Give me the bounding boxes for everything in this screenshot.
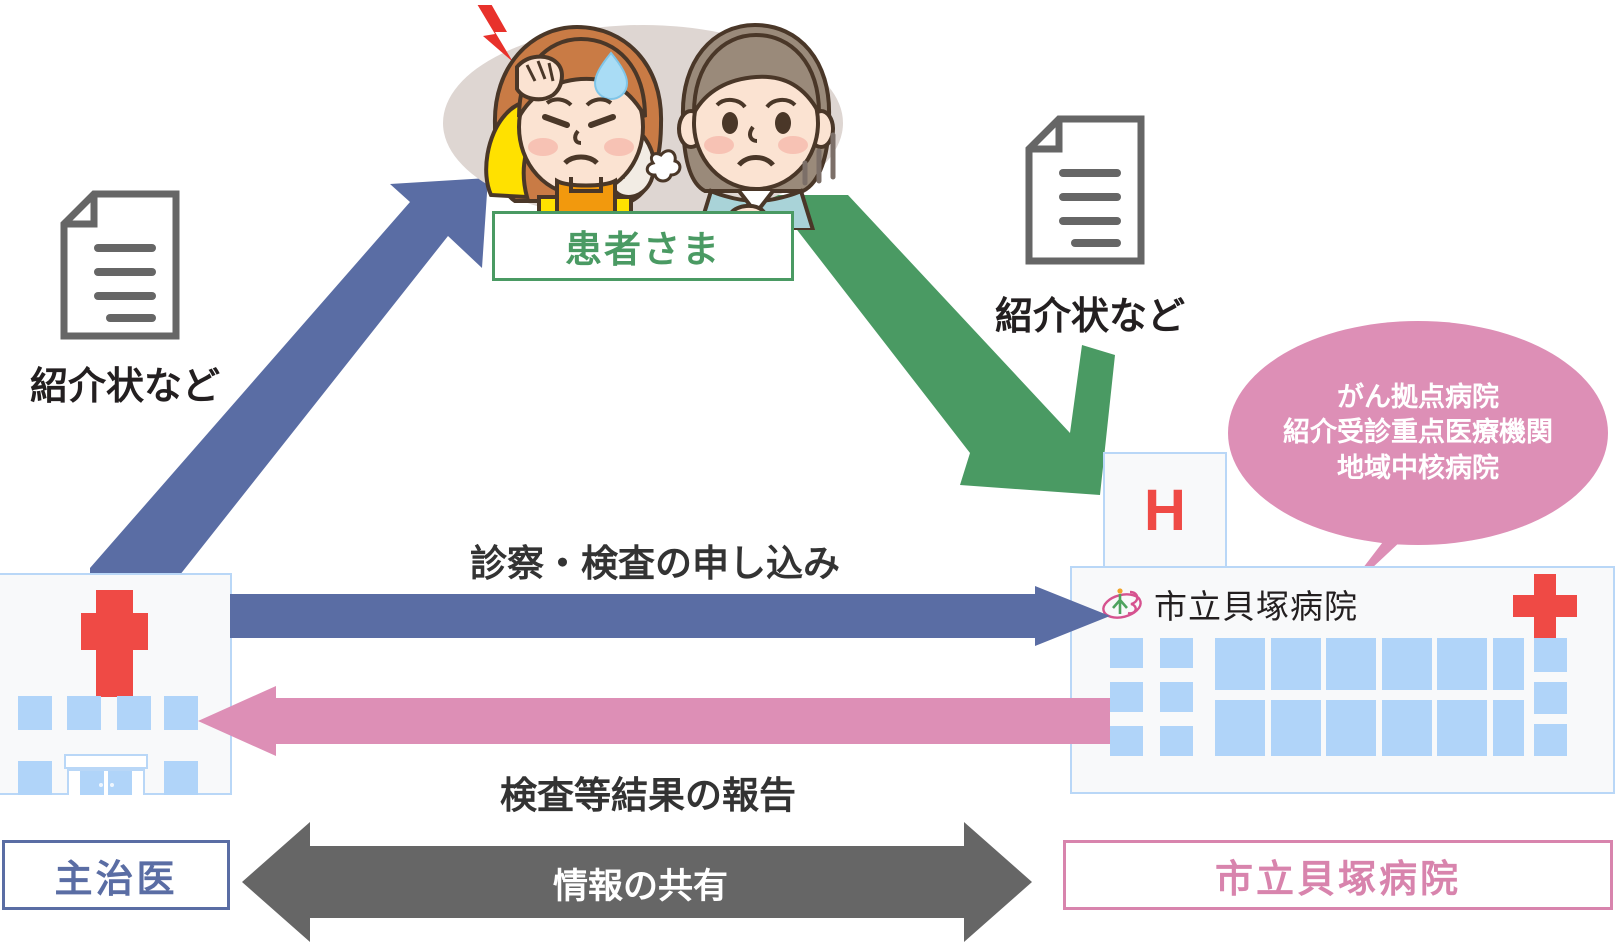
bubble-line-3: 地域中核病院 [1337, 451, 1499, 487]
hospital-name: 市立貝塚病院 [1154, 580, 1358, 628]
role-hospital-label: 市立貝塚病院 [1215, 848, 1461, 903]
request-caption: 診察・検査の申し込み [470, 533, 840, 587]
diagram-canvas: 紹介状など 紹介状など [0, 0, 1615, 951]
referral-document-right-label: 紹介状など [995, 285, 1185, 340]
hospital-building: 市立貝塚病院 [1070, 566, 1615, 794]
bubble-line-1: がん拠点病院 [1337, 380, 1499, 416]
patient-label: 患者さま [565, 219, 721, 273]
referral-document-left [60, 190, 180, 345]
bubble-line-2: 紹介受診重点医療機関 [1283, 415, 1553, 451]
patient-illustration [435, 5, 845, 230]
role-box-hospital: 市立貝塚病院 [1063, 840, 1613, 910]
arrow-request [230, 586, 1110, 646]
designation-bubble: がん拠点病院 紹介受診重点医療機関 地域中核病院 [1228, 321, 1608, 545]
role-box-doctor: 主治医 [2, 840, 230, 910]
patient-label-box: 患者さま [492, 211, 794, 281]
role-doctor-label: 主治医 [54, 848, 177, 903]
report-caption: 検査等結果の報告 [500, 765, 796, 819]
document-icon [60, 190, 180, 340]
referral-document-right [1025, 115, 1145, 270]
hospital-sign-box: H [1103, 452, 1227, 568]
hospital-sign-letter: H [1144, 477, 1186, 544]
clinic-building [0, 573, 232, 795]
share-caption: 情報の共有 [553, 858, 728, 909]
referral-document-left-label: 紹介状など [30, 355, 220, 410]
arrow-report [198, 686, 1110, 756]
document-icon [1025, 115, 1145, 265]
